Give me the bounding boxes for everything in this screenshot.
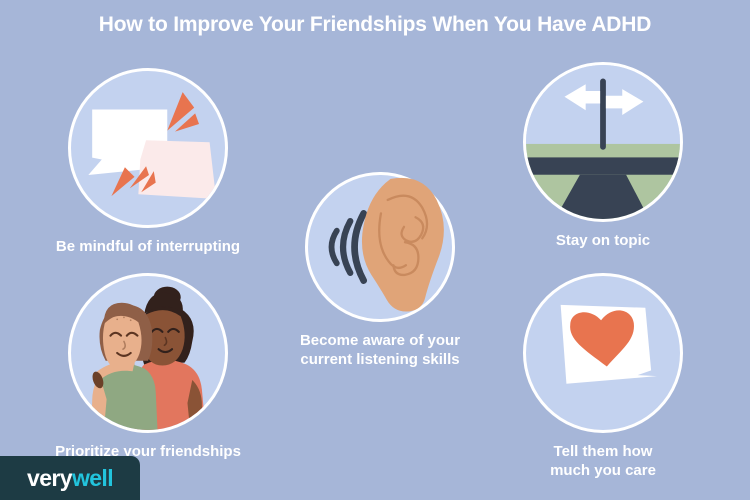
icon-circle-care bbox=[523, 273, 683, 433]
two-friends-icon bbox=[71, 276, 225, 430]
heart-speech-bubble-icon bbox=[526, 276, 680, 430]
verywell-logo[interactable]: verywell bbox=[0, 456, 140, 500]
speech-bubbles-interrupt-icon bbox=[71, 71, 225, 225]
caption-topic: Stay on topic bbox=[495, 231, 711, 250]
item-prioritize-your-friendships: Prioritize your friendships bbox=[40, 273, 256, 461]
road-signpost-arrows-icon bbox=[526, 65, 680, 219]
caption-listening: Become aware of your current listening s… bbox=[295, 331, 465, 369]
page-title: How to Improve Your Friendships When You… bbox=[0, 12, 750, 38]
icon-circle-topic bbox=[523, 62, 683, 222]
item-be-mindful-of-interrupting: Be mindful of interrupting bbox=[40, 68, 256, 256]
caption-interrupting: Be mindful of interrupting bbox=[40, 237, 256, 256]
logo-text: verywell bbox=[27, 465, 113, 492]
icon-circle-interrupting bbox=[68, 68, 228, 228]
item-stay-on-topic: Stay on topic bbox=[495, 62, 711, 250]
icon-circle-listening bbox=[305, 172, 455, 322]
logo-text-very: very bbox=[27, 465, 72, 491]
infographic-canvas: How to Improve Your Friendships When You… bbox=[0, 0, 750, 500]
ear-sound-waves-icon bbox=[308, 175, 452, 319]
item-become-aware-listening-skills: Become aware of your current listening s… bbox=[295, 172, 465, 369]
logo-text-well: well bbox=[72, 465, 113, 491]
caption-care: Tell them how much you care bbox=[495, 442, 711, 480]
icon-circle-friendships bbox=[68, 273, 228, 433]
item-tell-them-how-much-you-care: Tell them how much you care bbox=[495, 273, 711, 480]
